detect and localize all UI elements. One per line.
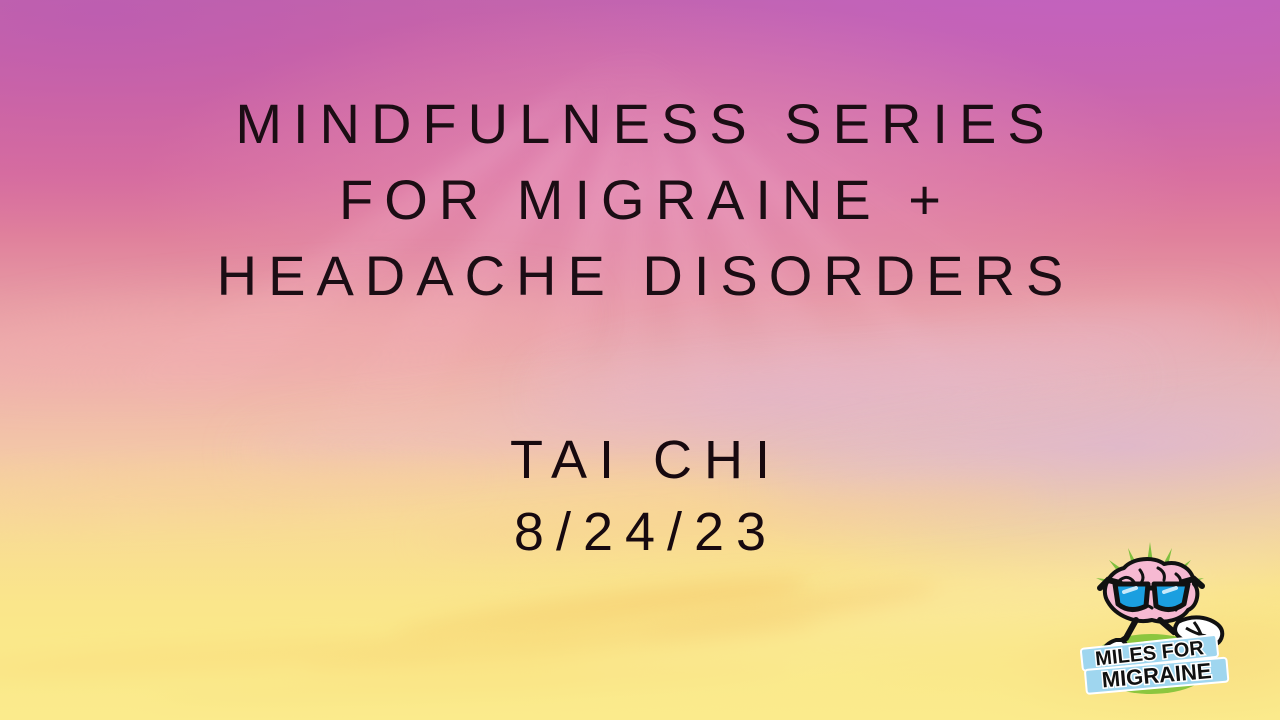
promo-slide: MINDFULNESS SERIES FOR MIGRAINE + HEADAC… bbox=[0, 0, 1280, 720]
title-line-2: FOR MIGRAINE + bbox=[0, 162, 1280, 238]
logo-wordmark: MILES FOR MIGRAINE bbox=[1081, 635, 1229, 694]
title-line-3: HEADACHE DISORDERS bbox=[0, 238, 1280, 314]
title-line-1: MINDFULNESS SERIES bbox=[0, 86, 1280, 162]
page-title: MINDFULNESS SERIES FOR MIGRAINE + HEADAC… bbox=[0, 86, 1280, 314]
logo-artwork: MILES FOR MIGRAINE bbox=[1060, 536, 1242, 696]
miles-for-migraine-logo: MILES FOR MIGRAINE bbox=[1060, 536, 1242, 696]
session-name: TAI CHI bbox=[0, 424, 1280, 496]
